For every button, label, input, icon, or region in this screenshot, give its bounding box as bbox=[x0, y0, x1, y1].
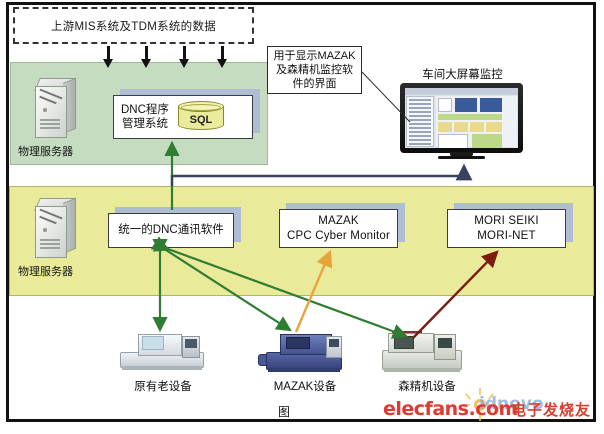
mori-net-line2: MORI-NET bbox=[477, 230, 535, 242]
diagram-canvas: 上游MIS系统及TDM系统的数据 物理服务器 DNC程序 管理系统 SQL bbox=[0, 0, 604, 434]
upstream-arrow-1 bbox=[107, 46, 110, 60]
server-mid-label: 物理服务器 bbox=[18, 263, 73, 279]
workshop-display-monitor bbox=[400, 83, 523, 161]
mazak-machine-icon bbox=[266, 332, 344, 374]
watermark-site: elecfans.com bbox=[383, 398, 518, 420]
dnc-management-line1: DNC程序 bbox=[121, 103, 169, 117]
upstream-data-box: 上游MIS系统及TDM系统的数据 bbox=[13, 7, 254, 44]
display-note-box: 用于显示MAZAK 及森精机监控软 件的界面 bbox=[267, 46, 362, 94]
mazak-machine-label: MAZAK设备 bbox=[255, 378, 355, 394]
mazak-cpc-line2: CPC Cyber Monitor bbox=[287, 230, 390, 242]
watermark-cn: 电子发烧友 bbox=[511, 399, 591, 420]
mori-machine-icon bbox=[382, 332, 464, 374]
dnc-management-line2: 管理系统 bbox=[121, 117, 169, 131]
upstream-arrow-4 bbox=[221, 46, 224, 60]
dnc-comm-box[interactable]: 统一的DNC通讯软件 bbox=[108, 213, 234, 248]
mori-net-text: MORI SEIKI MORI-NET bbox=[474, 214, 539, 244]
monitor-screen bbox=[405, 88, 518, 148]
upstream-arrow-3 bbox=[183, 46, 186, 60]
display-note-text: 用于显示MAZAK 及森精机监控软 件的界面 bbox=[274, 49, 356, 92]
display-note-line3: 件的界面 bbox=[293, 78, 337, 90]
monitor-title: 车间大屏幕监控 bbox=[395, 66, 530, 82]
upstream-data-label: 上游MIS系统及TDM系统的数据 bbox=[51, 18, 216, 34]
mazak-cpc-box[interactable]: MAZAK CPC Cyber Monitor bbox=[279, 209, 398, 248]
mazak-cpc-text: MAZAK CPC Cyber Monitor bbox=[287, 214, 390, 244]
mori-net-box[interactable]: MORI SEIKI MORI-NET bbox=[447, 209, 566, 248]
mori-net-line1: MORI SEIKI bbox=[474, 215, 539, 227]
server-top-label: 物理服务器 bbox=[18, 143, 73, 159]
figure-caption: 图 bbox=[278, 403, 290, 420]
dnc-comm-label: 统一的DNC通讯软件 bbox=[118, 223, 223, 237]
display-note-line2: 及森精机监控软 bbox=[276, 64, 353, 76]
dnc-management-text: DNC程序 管理系统 bbox=[121, 103, 169, 132]
dnc-management-box[interactable]: DNC程序 管理系统 SQL bbox=[113, 95, 253, 139]
sql-database-icon: SQL bbox=[178, 101, 224, 133]
display-note-line1: 用于显示MAZAK bbox=[274, 50, 356, 62]
sql-database-label: SQL bbox=[178, 114, 224, 128]
server-top-icon bbox=[33, 78, 79, 138]
server-mid-icon bbox=[33, 198, 79, 258]
watermark: idnovo elecfans.com 电子发烧友 bbox=[383, 392, 595, 424]
upstream-arrow-2 bbox=[145, 46, 148, 60]
mazak-cpc-line1: MAZAK bbox=[318, 215, 359, 227]
legacy-machine-label: 原有老设备 bbox=[113, 378, 213, 394]
legacy-machine-icon bbox=[120, 330, 206, 372]
